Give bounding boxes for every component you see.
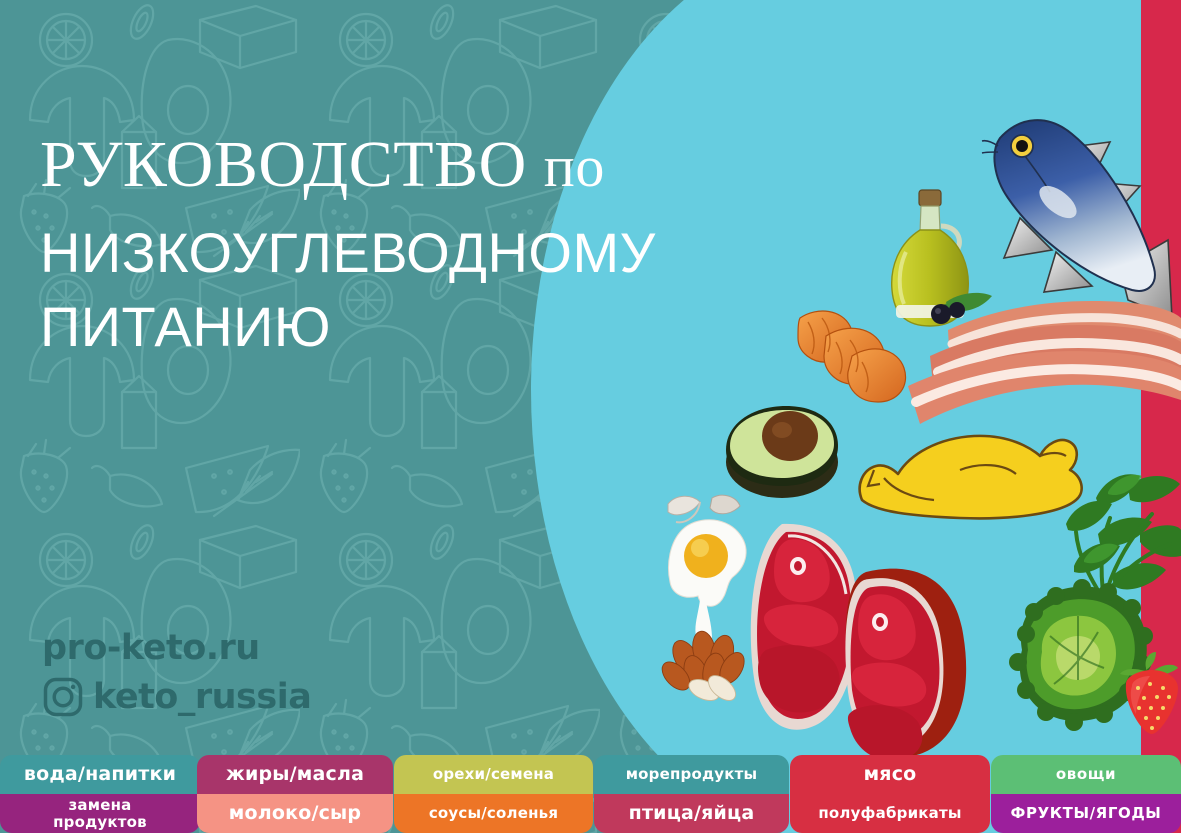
- category-bottom-label[interactable]: птица/яйца: [594, 794, 789, 833]
- category-bar: вода/напиткизаменапродуктовжиры/масламол…: [0, 733, 1181, 833]
- category-top-label[interactable]: орехи/семена: [394, 755, 593, 794]
- poster-canvas: РУКОВОДСТВО по НИЗКОУГЛЕВОДНОМУ ПИТАНИЮ …: [0, 0, 1181, 833]
- instagram-icon: [42, 676, 84, 718]
- website-url[interactable]: pro-keto.ru: [42, 630, 311, 667]
- category-top-label[interactable]: морепродукты: [594, 755, 789, 794]
- category-top-label[interactable]: мясо: [790, 755, 990, 794]
- branding-block: pro-keto.ru keto_russia: [42, 630, 311, 718]
- category-bottom-label[interactable]: полуфабрикаты: [790, 794, 990, 833]
- category-top-label[interactable]: вода/напитки: [0, 755, 200, 794]
- instagram-link[interactable]: keto_russia: [42, 676, 311, 718]
- category-card-fats-oils-dairy[interactable]: жиры/масламолоко/сыр: [197, 755, 393, 833]
- instagram-handle: keto_russia: [93, 677, 311, 717]
- category-top-label[interactable]: жиры/масла: [197, 755, 393, 794]
- category-bottom-label[interactable]: заменапродуктов: [0, 794, 200, 833]
- title-line-3: ПИТАНИЮ: [40, 290, 800, 364]
- category-bottom-label-stack: заменапродуктов: [53, 797, 147, 829]
- category-bottom-label[interactable]: молоко/сыр: [197, 794, 393, 833]
- category-bottom-label[interactable]: соусы/соленья: [394, 794, 593, 833]
- category-bottom-label-line2: продуктов: [53, 813, 147, 831]
- category-bottom-label[interactable]: ФРУКТЫ/ЯГОДЫ: [991, 794, 1181, 833]
- category-card-seafood-poultry-eggs[interactable]: морепродуктыптица/яйца: [594, 755, 789, 833]
- category-card-nuts-seeds-sauces[interactable]: орехи/семенасоусы/соленья: [394, 755, 593, 833]
- title-line-2: НИЗКОУГЛЕВОДНОМУ: [40, 216, 800, 290]
- category-top-label[interactable]: овощи: [991, 755, 1181, 794]
- title-word-rukovodstvo: РУКОВОДСТВО: [40, 128, 527, 201]
- band-seafood-cyan: [531, 0, 1141, 833]
- category-card-meat-semifinished[interactable]: мясополуфабрикаты: [790, 755, 990, 833]
- title-line-1: РУКОВОДСТВО по: [40, 132, 800, 198]
- title-word-po: по: [544, 134, 605, 199]
- category-card-vegetables-fruits-berries[interactable]: овощиФРУКТЫ/ЯГОДЫ: [991, 755, 1181, 833]
- category-card-water-drinks[interactable]: вода/напиткизаменапродуктов: [0, 755, 200, 833]
- poster-title: РУКОВОДСТВО по НИЗКОУГЛЕВОДНОМУ ПИТАНИЮ: [40, 132, 800, 364]
